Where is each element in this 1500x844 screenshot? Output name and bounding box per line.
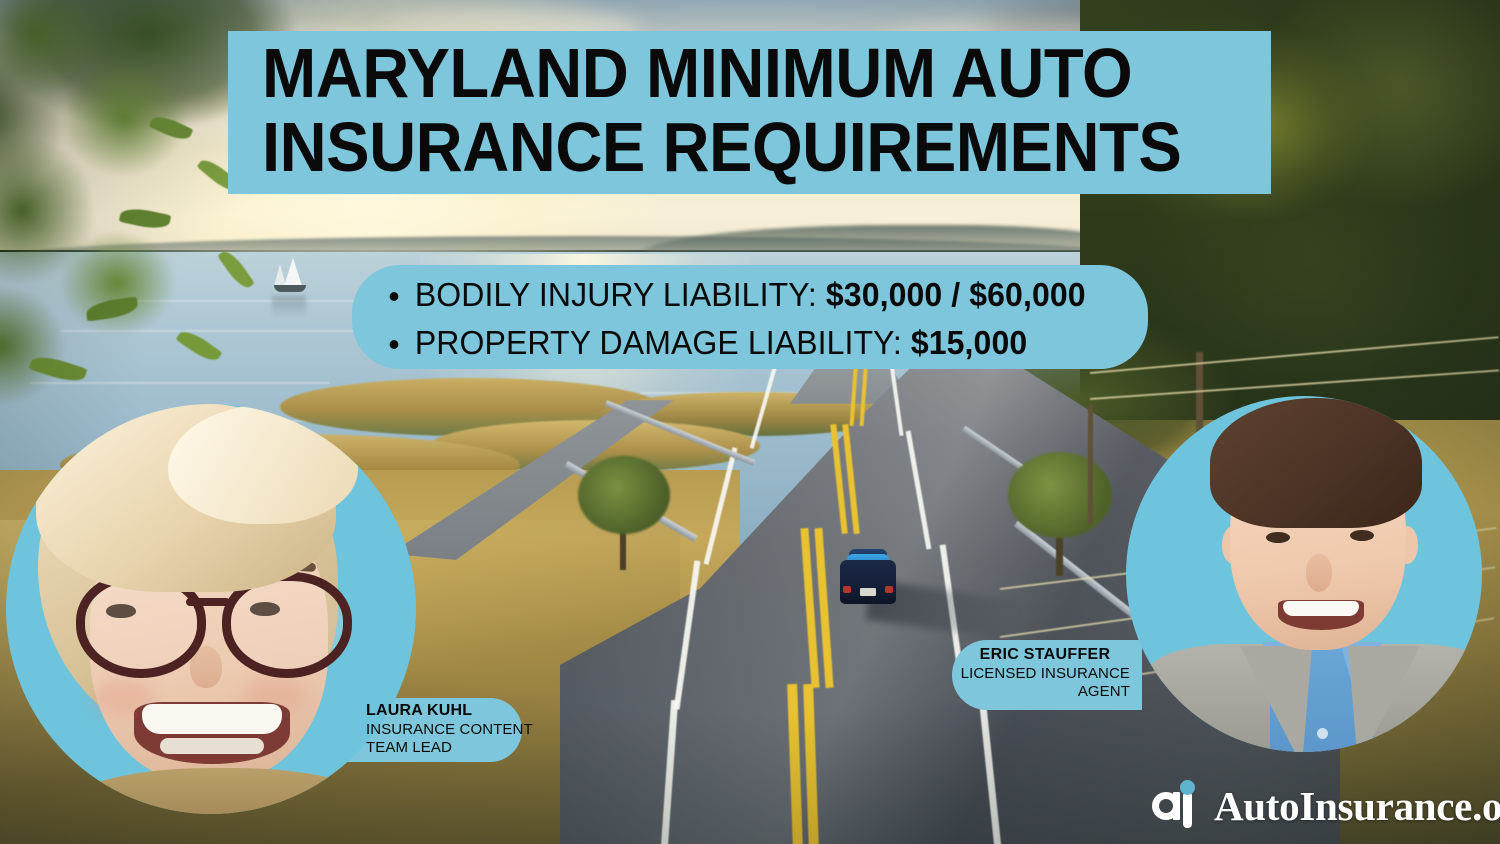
requirement-item: PROPERTY DAMAGE LIABILITY: $15,000 [378,319,1144,367]
page-title: MARYLAND MINIMUM AUTO INSURANCE REQUIREM… [262,36,1192,184]
requirement-value: $30,000 / $60,000 [826,276,1086,313]
eric-role-line-2: AGENT [960,683,1130,701]
sailboat [268,258,312,296]
eric-credit: ERIC STAUFFER LICENSED INSURANCE AGENT [960,645,1130,701]
laura-role-line-2: TEAM LEAD [366,739,536,757]
eric-role-line-1: LICENSED INSURANCE [960,665,1130,683]
laura-photo [18,404,416,814]
poster-canvas: MARYLAND MINIMUM AUTO INSURANCE REQUIREM… [0,0,1500,844]
utility-pole [1088,404,1093,524]
boat-reflection [272,296,306,318]
roadside-tree [578,456,670,534]
roadside-tree [1008,452,1112,538]
car [840,546,896,606]
eric-photo [1174,398,1474,752]
brand-logo[interactable]: AutoInsurance.org [1152,782,1500,830]
title-line-1: MARYLAND MINIMUM AUTO [262,36,1192,110]
foliage-left [0,0,260,460]
avatar-eric-stauffer [1126,396,1482,752]
laura-role-line-1: INSURANCE CONTENT [366,721,536,739]
requirements-list: BODILY INJURY LIABILITY: $30,000 / $60,0… [378,271,1168,367]
requirement-value: $15,000 [911,324,1027,361]
requirement-label: PROPERTY DAMAGE LIABILITY: [415,324,902,361]
avatar-laura-kuhl [6,404,416,814]
laura-credit: LAURA KUHL INSURANCE CONTENT TEAM LEAD [366,701,536,757]
ai-monogram-icon [1152,782,1200,830]
eric-name: ERIC STAUFFER [960,645,1130,665]
requirement-label: BODILY INJURY LIABILITY: [415,276,817,313]
title-line-2: INSURANCE REQUIREMENTS [262,110,1192,184]
brand-wordmark: AutoInsurance.org [1214,782,1500,830]
requirement-item: BODILY INJURY LIABILITY: $30,000 / $60,0… [378,271,1144,319]
laura-name: LAURA KUHL [366,701,536,721]
